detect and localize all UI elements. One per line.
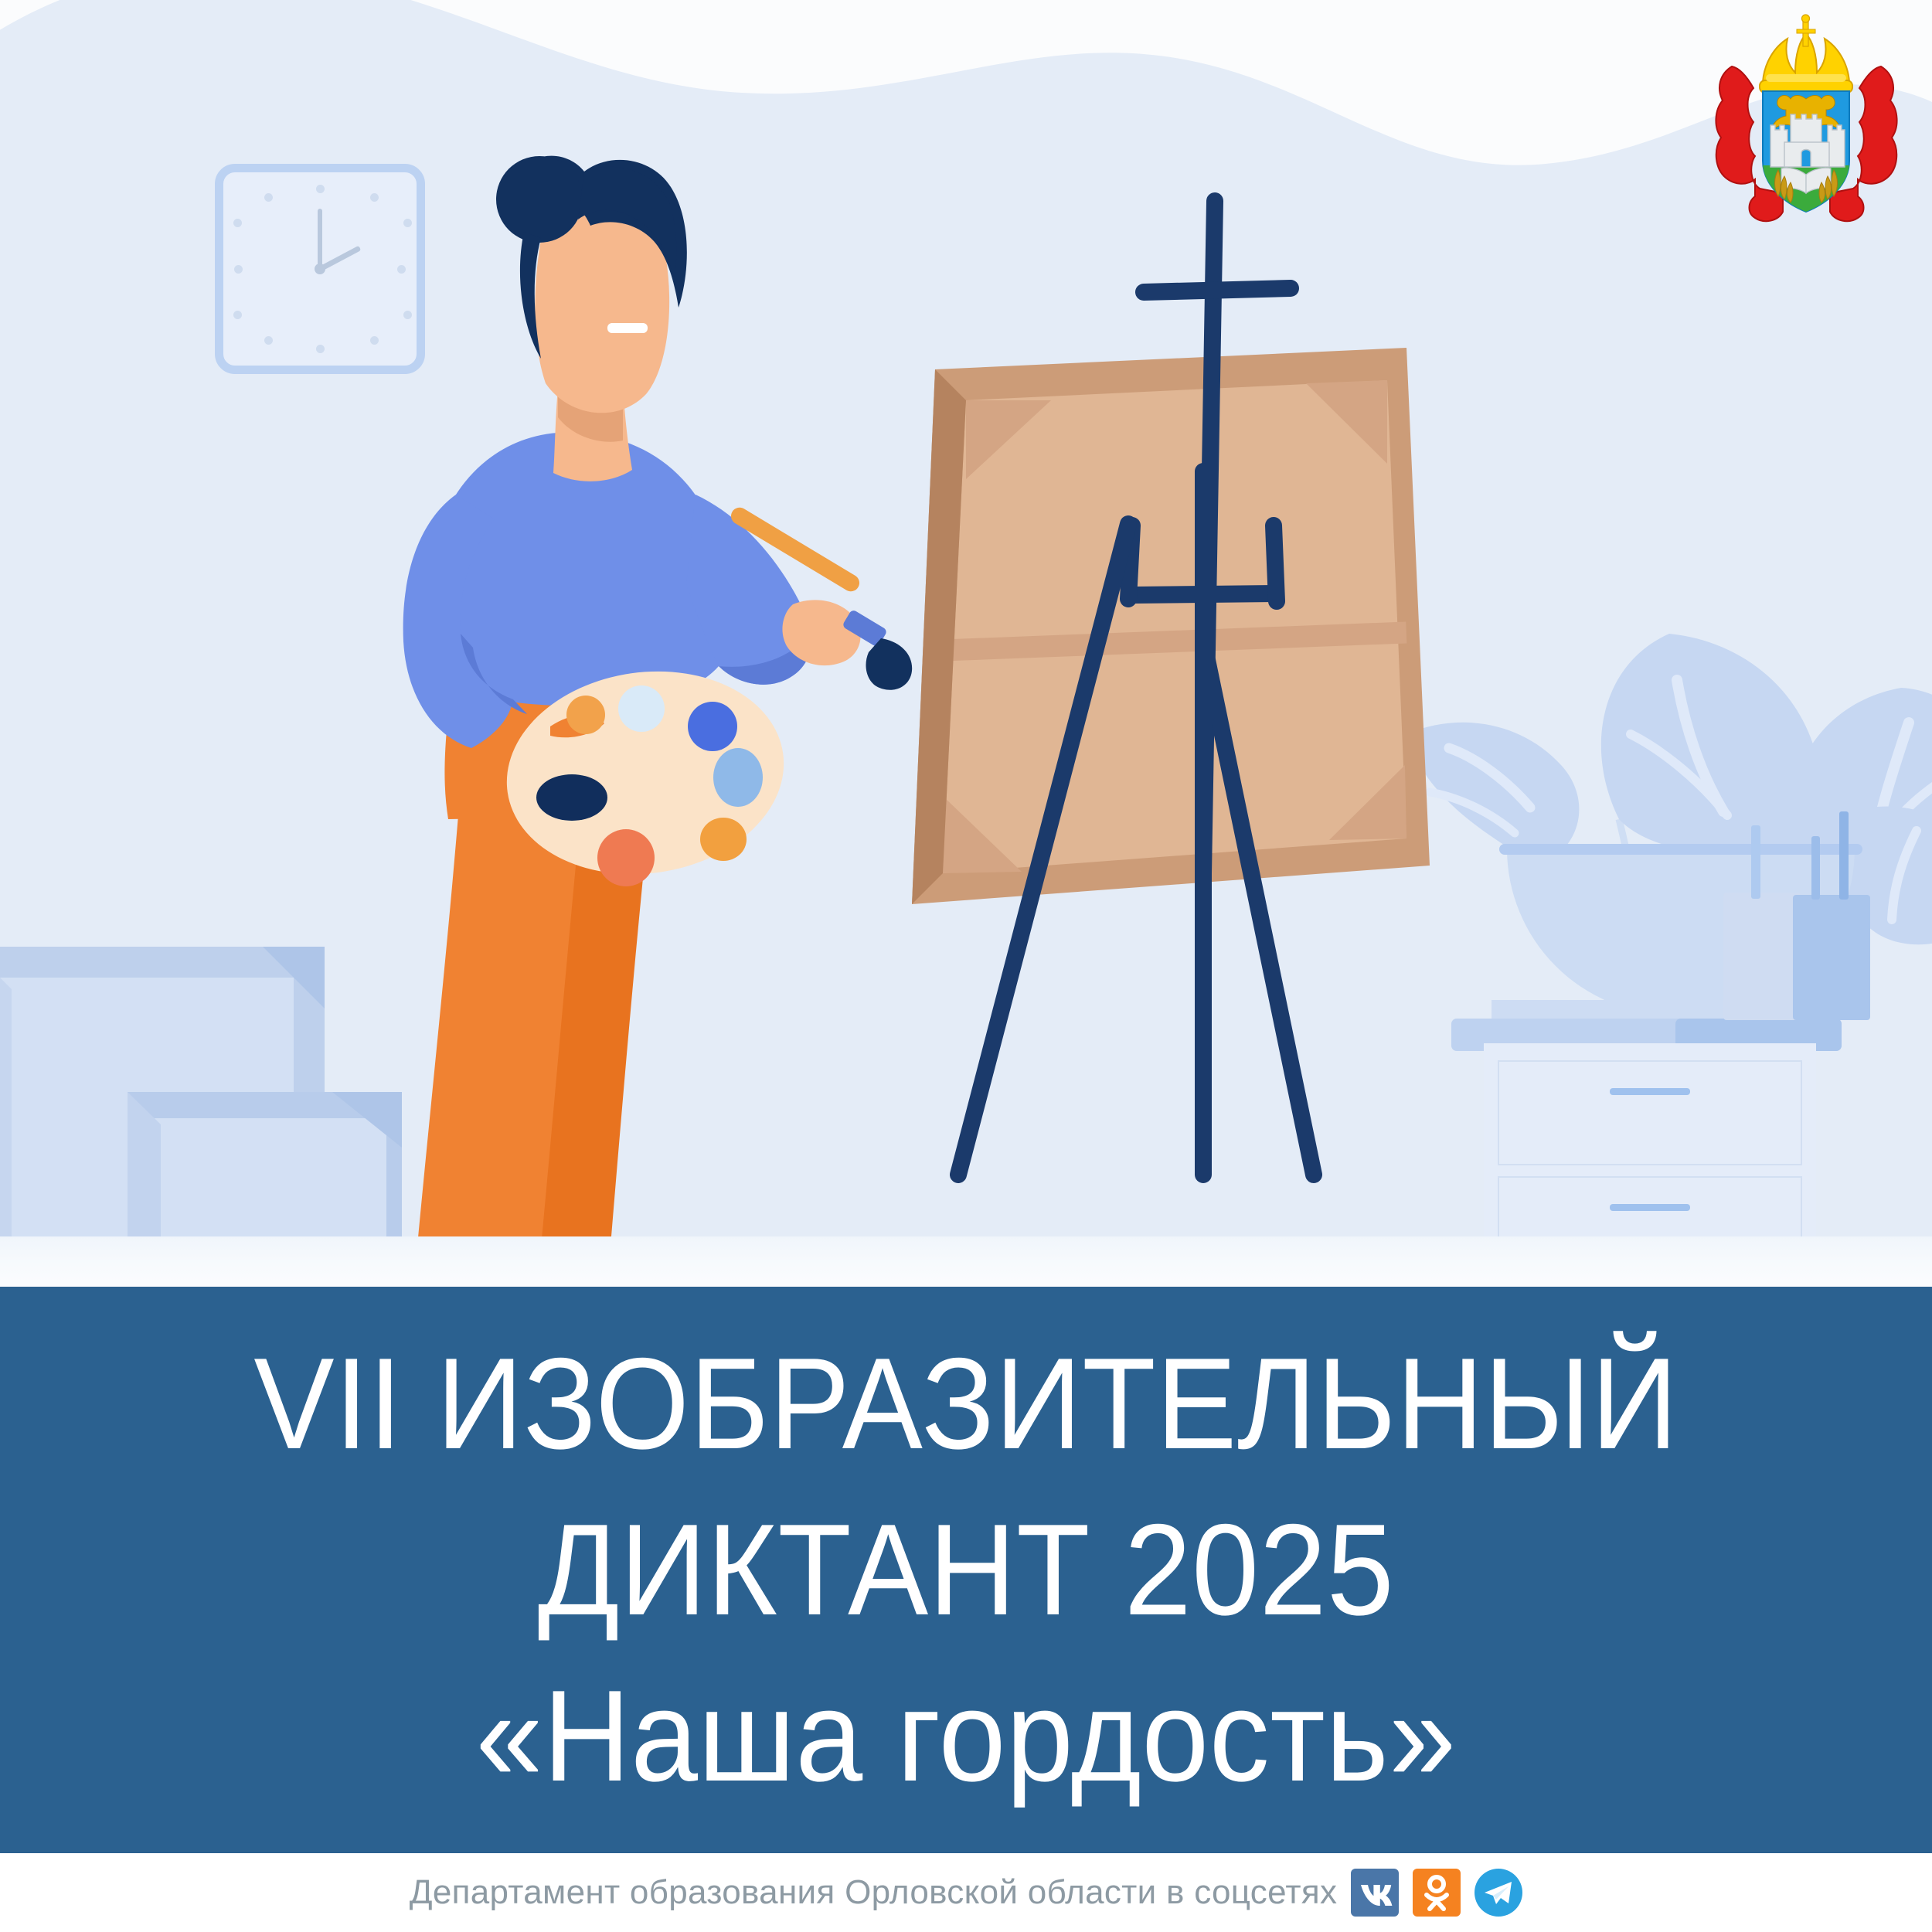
poster-title: VII ИЗОБРАЗИТЕЛЬНЫЙ ДИКТАНТ 2025 «Наша г…: [211, 1321, 1722, 1819]
title-line-1: VII ИЗОБРАЗИТЕЛЬНЫЙ: [253, 1321, 1678, 1487]
mouth: [607, 323, 648, 333]
title-line-3: «Наша гордость»: [253, 1653, 1678, 1819]
footer-bar: Департамент образования Орловской област…: [0, 1853, 1932, 1932]
paint-blob: [597, 829, 655, 886]
illustration-scene: [0, 0, 1932, 1287]
telegram-icon[interactable]: [1475, 1869, 1522, 1917]
floor-strip: [0, 1236, 1932, 1287]
vk-icon[interactable]: [1351, 1869, 1399, 1917]
title-line-2: ДИКТАНТ 2025: [253, 1487, 1678, 1653]
poster-root: VII ИЗОБРАЗИТЕЛЬНЫЙ ДИКТАНТ 2025 «Наша г…: [0, 0, 1932, 1932]
odnoklassniki-icon[interactable]: [1413, 1869, 1461, 1917]
footer-label: Департамент образования Орловской област…: [410, 1873, 1338, 1912]
paint-blob: [566, 696, 605, 734]
paint-blob: [700, 818, 747, 861]
hair-bun: [496, 156, 583, 243]
paint-blob: [713, 748, 763, 807]
title-banner: VII ИЗОБРАЗИТЕЛЬНЫЙ ДИКТАНТ 2025 «Наша г…: [0, 1287, 1932, 1853]
woman-artist: [0, 0, 1932, 1287]
paint-blob: [618, 685, 665, 732]
paint-blob: [688, 702, 737, 751]
coat-of-arms-icon: [1704, 14, 1909, 238]
crown: [1760, 15, 1852, 93]
paint-blob: [536, 774, 607, 821]
